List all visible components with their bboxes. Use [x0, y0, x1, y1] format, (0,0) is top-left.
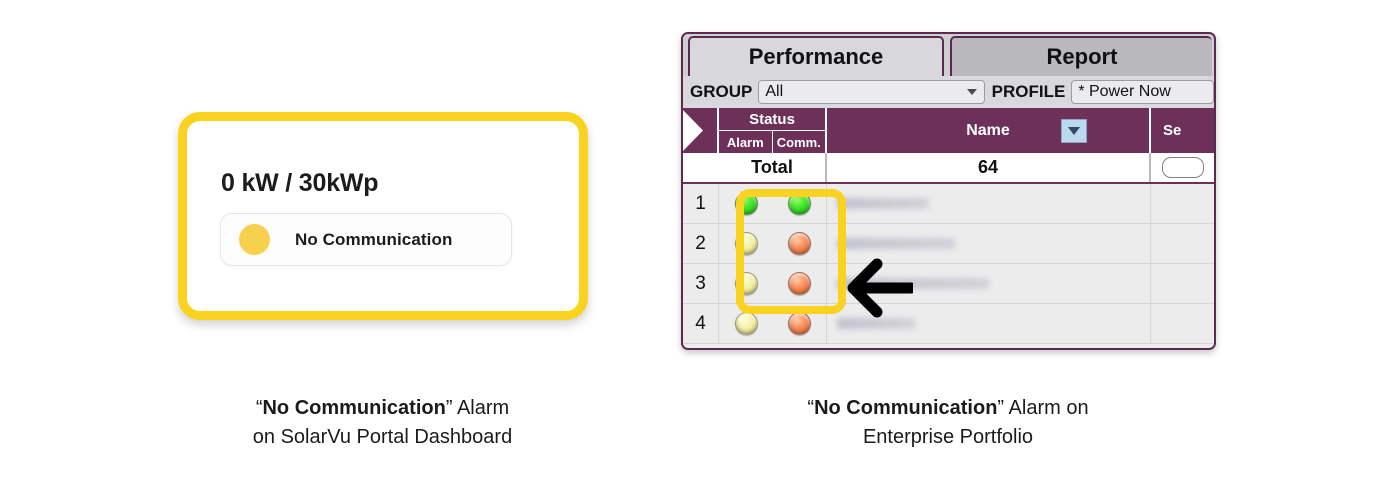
enterprise-portfolio-panel: Performance Report GROUP All PROFILE * P… — [681, 32, 1216, 350]
grid-header-row: Status Alarm Comm. Name Se — [683, 108, 1214, 153]
alarm-status-cell[interactable] — [719, 264, 773, 303]
comm-status-cell[interactable] — [773, 184, 827, 223]
portfolio-data-grid: Status Alarm Comm. Name Se Total 64 1234 — [683, 108, 1214, 348]
caption-right-rest: Alarm on — [1004, 397, 1088, 419]
yellow-led-icon — [735, 312, 758, 335]
green-led-icon — [788, 192, 811, 215]
caption-right-line2: Enterprise Portfolio — [863, 426, 1033, 448]
comm-status-cell[interactable] — [773, 304, 827, 343]
green-led-icon — [735, 192, 758, 215]
redacted-name — [837, 238, 955, 249]
serial-cell — [1151, 184, 1214, 223]
caption-left-line2: on SolarVu Portal Dashboard — [253, 426, 512, 448]
grid-total-row: Total 64 — [683, 153, 1214, 184]
profile-select-value: * Power Now — [1078, 83, 1170, 101]
header-alarm-label: Alarm — [719, 130, 773, 153]
dashboard-status-card: 0 kW / 30kWp No Communication — [178, 112, 588, 320]
orange-led-icon — [788, 312, 811, 335]
pointer-arrow-icon — [843, 258, 913, 318]
sort-chevron-down-icon[interactable] — [1061, 119, 1087, 143]
status-pill-label: No Communication — [295, 230, 452, 250]
table-row[interactable]: 1 — [683, 184, 1214, 224]
profile-label: PROFILE — [992, 82, 1066, 102]
yellow-led-icon — [735, 272, 758, 295]
alarm-status-cell[interactable] — [719, 224, 773, 263]
total-serial-pill — [1162, 157, 1204, 178]
caption-left-rest: Alarm — [453, 397, 510, 419]
group-select-value: All — [765, 83, 783, 101]
header-serial-column: Se — [1151, 108, 1214, 153]
header-name-column[interactable]: Name — [827, 108, 1151, 153]
redacted-name — [837, 198, 929, 209]
alarm-status-cell[interactable] — [719, 304, 773, 343]
expand-arrow-icon[interactable] — [683, 108, 703, 153]
comm-status-cell[interactable] — [773, 224, 827, 263]
chevron-down-icon — [967, 89, 977, 95]
filter-bar: GROUP All PROFILE * Power Now — [683, 76, 1214, 109]
header-comm-label: Comm. — [773, 130, 826, 153]
total-serial-cell — [1151, 153, 1214, 182]
total-index-cell — [683, 153, 719, 182]
redacted-name — [837, 318, 915, 329]
grid-rows-container: 1234 — [683, 184, 1214, 344]
caption-left-close-quote: ” — [446, 397, 453, 419]
row-index-cell: 1 — [683, 184, 719, 223]
table-row[interactable]: 3 — [683, 264, 1214, 304]
site-name-cell[interactable] — [827, 184, 1151, 223]
no-communication-status-pill[interactable]: No Communication — [220, 213, 512, 266]
solarvu-dashboard-panel: 0 kW / 30kWp No Communication “No Commun… — [0, 0, 700, 494]
status-indicator-dot — [239, 224, 270, 255]
caption-left: “No Communication” Alarm on SolarVu Port… — [180, 394, 585, 452]
yellow-led-icon — [735, 232, 758, 255]
table-row[interactable]: 4 — [683, 304, 1214, 344]
orange-led-icon — [788, 272, 811, 295]
row-index-cell: 4 — [683, 304, 719, 343]
group-select[interactable]: All — [758, 80, 984, 104]
header-index-column — [683, 108, 719, 153]
total-count-cell: 64 — [827, 153, 1151, 182]
caption-right-quoted: No Communication — [814, 397, 997, 419]
group-label: GROUP — [690, 82, 752, 102]
serial-cell — [1151, 264, 1214, 303]
serial-cell — [1151, 304, 1214, 343]
comm-status-cell[interactable] — [773, 264, 827, 303]
caption-right: “No Communication” Alarm on Enterprise P… — [742, 394, 1154, 452]
caption-left-quoted: No Communication — [262, 397, 445, 419]
header-status-label: Status — [719, 108, 825, 130]
table-row[interactable]: 2 — [683, 224, 1214, 264]
row-index-cell: 2 — [683, 224, 719, 263]
profile-select[interactable]: * Power Now — [1071, 80, 1214, 104]
tab-strip: Performance Report — [683, 34, 1214, 76]
serial-cell — [1151, 224, 1214, 263]
total-label-cell: Total — [719, 153, 827, 182]
header-status-column: Status Alarm Comm. — [719, 108, 827, 153]
power-output-value: 0 kW / 30kWp — [221, 169, 378, 198]
row-index-cell: 3 — [683, 264, 719, 303]
alarm-status-cell[interactable] — [719, 184, 773, 223]
tab-performance[interactable]: Performance — [688, 36, 944, 76]
tab-report[interactable]: Report — [950, 36, 1212, 76]
header-name-label: Name — [966, 122, 1010, 140]
orange-led-icon — [788, 232, 811, 255]
